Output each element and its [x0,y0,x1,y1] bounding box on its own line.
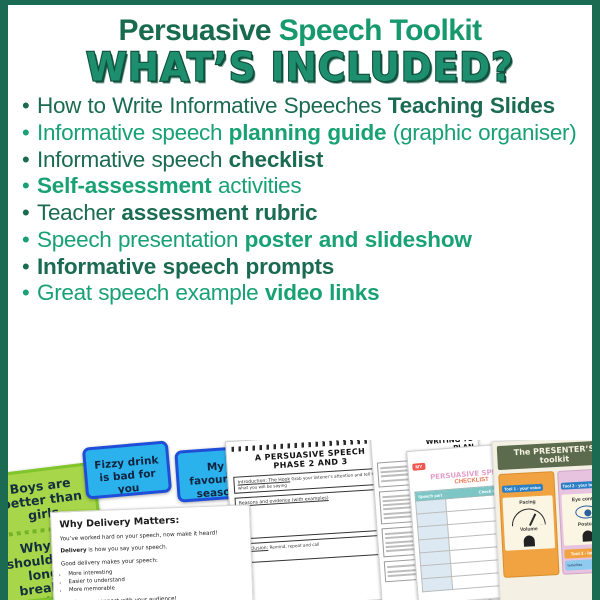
speaker-person-icon [524,535,536,547]
tool2-item-eye-contact: Eye contact [563,495,592,503]
presenter-tool-row: Tool 1 - your voice Pacing Volume Tool 2… [498,468,592,578]
tool2-label: Tool 2 - your body [560,481,592,490]
tool1-item-volume: Volume [506,525,552,533]
title-part-speech-toolkit: Speech Toolkit [279,14,482,47]
list-item: Self-assessment activities [22,173,584,199]
phase-box-reasons: Reasons and evidence (with examples) [235,489,393,540]
subtitle-row: WHAT’S INCLUDED? [8,49,592,86]
poster-inner: Persuasive Speech Toolkit WHAT’S INCLUDE… [8,5,592,600]
tool1-item-pacing: Pacing [505,498,551,506]
tool-card-body: Tool 2 - your body Eye contact Posture T… [557,468,592,575]
tool2-item-posture: Posture [564,520,592,528]
list-item-bold: assessment rubric [121,200,317,225]
list-item: Speech presentation poster and slideshow [22,227,584,253]
list-item-text: Great speech example [37,280,265,305]
list-item-text: Teacher [37,200,121,225]
poster-canvas: Persuasive Speech Toolkit WHAT’S INCLUDE… [0,0,600,600]
tool3-label: Tool 3 - language [564,547,592,559]
list-item-text-2: activities [212,173,302,198]
resource-preview-collage: Boys are better than girls Why we should… [8,440,592,600]
tool2-eye-block: Eye contact Posture [561,492,592,546]
list-item: How to Write Informative Speeches Teachi… [22,93,584,119]
eye-icon [575,505,592,519]
subtitle-whats-included: WHAT’S INCLUDED? [86,48,514,87]
list-item-bold: video links [265,280,380,305]
tool-card-voice: Tool 1 - your voice Pacing Volume [498,471,559,578]
tool1-pacing-block: Pacing Volume [502,495,554,551]
thumbnail-delivery-matters-card[interactable]: Why Delivery Matters: You’ve worked hard… [50,504,254,600]
list-item-text: Informative speech [37,147,229,172]
list-item-bold: checklist [229,147,324,172]
title-part-persuasive: Persuasive [119,14,279,47]
list-item-bold: poster and slideshow [245,227,472,252]
included-items-list: How to Write Informative Speeches Teachi… [8,93,592,306]
list-item-bold: planning guide [229,120,387,145]
phase-box-reasons-label: Reasons and evidence (with examples) [239,496,329,506]
checklist-tag: MY [412,463,425,471]
list-item: Teacher assessment rubric [22,200,584,226]
speedometer-icon [511,508,546,527]
list-item-text: Informative speech [37,120,229,145]
phase-box-conclusion-note: Remind, repeat and call [269,542,319,550]
list-item-text: Speech presentation [37,227,245,252]
list-item: Informative speech prompts [22,254,584,280]
delivery-heading: Why Delivery Matters: [59,513,241,531]
tool1-label: Tool 1 - your voice [502,484,543,493]
list-item-text: How to Write Informative Speeches [37,93,388,118]
delivery-definition-bold: Delivery [60,548,86,555]
thumbnail-blue-prompt-card-1[interactable]: Fizzy drink is bad for you [82,440,172,499]
list-item-text-2: (graphic organiser) [386,120,576,145]
list-item: Informative speech checklist [22,147,584,173]
delivery-definition-rest: is how you say your speech. [86,545,167,554]
list-item-bold: Teaching Slides [388,93,555,118]
phase-box-conclusion: Conclusion: Remind, repeat and call [237,535,394,564]
list-item-bold: Self-assessment [37,173,212,198]
posture-person-icon [582,530,592,542]
list-item: Great speech example video links [22,280,584,306]
presenter-banner: The PRESENTER’S toolkit [497,440,592,470]
list-item: Informative speech planning guide (graph… [22,120,584,146]
tool3-sub: butterflies [564,558,592,571]
page-title: Persuasive Speech Toolkit [8,5,592,46]
list-item-bold: Informative speech prompts [37,254,334,279]
delivery-bullets: More interesting Easier to understand Mo… [68,563,244,594]
thumbnail-presenters-toolkit-poster[interactable]: The PRESENTER’S toolkit Tool 1 - your vo… [491,440,592,600]
